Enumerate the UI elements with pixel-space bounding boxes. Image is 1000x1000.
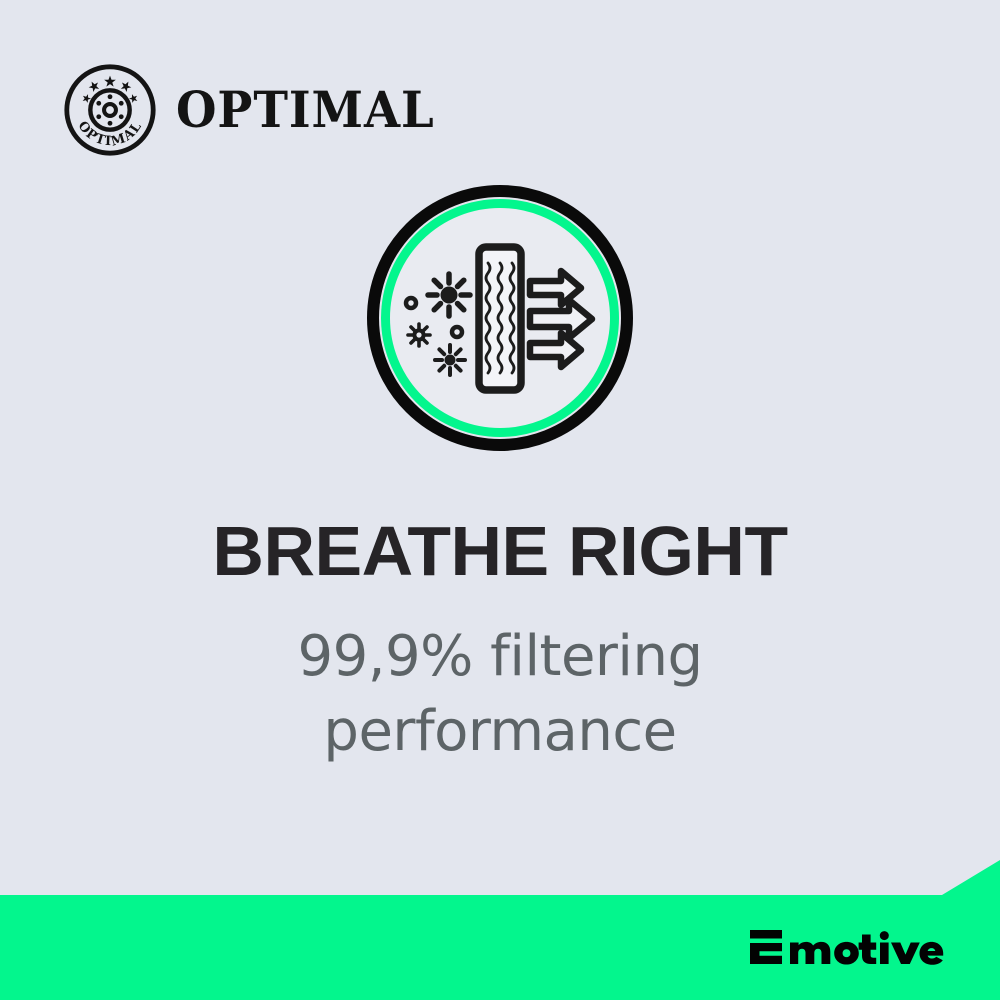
page-title: BREATHE RIGHT xyxy=(51,516,949,587)
optimal-seal-icon: OPTIMAL xyxy=(62,62,158,158)
brand-wordmark: OPTIMAL xyxy=(176,85,435,135)
airflow-arrows xyxy=(530,271,592,367)
subtitle: 99,9% filtering performance xyxy=(60,619,940,769)
air-filter-icon xyxy=(367,185,633,451)
filter-element xyxy=(479,247,521,390)
subtitle-line-2: performance xyxy=(60,694,940,769)
footer-bar: Emotive xyxy=(0,860,1000,1000)
copy-block: BREATHE RIGHT 99,9% filtering performanc… xyxy=(0,516,1000,769)
brand-header: OPTIMAL OPTIMAL xyxy=(62,62,454,158)
subtitle-line-1: 99,9% filtering xyxy=(60,619,940,694)
emotive-logo: Emotive xyxy=(750,928,964,972)
